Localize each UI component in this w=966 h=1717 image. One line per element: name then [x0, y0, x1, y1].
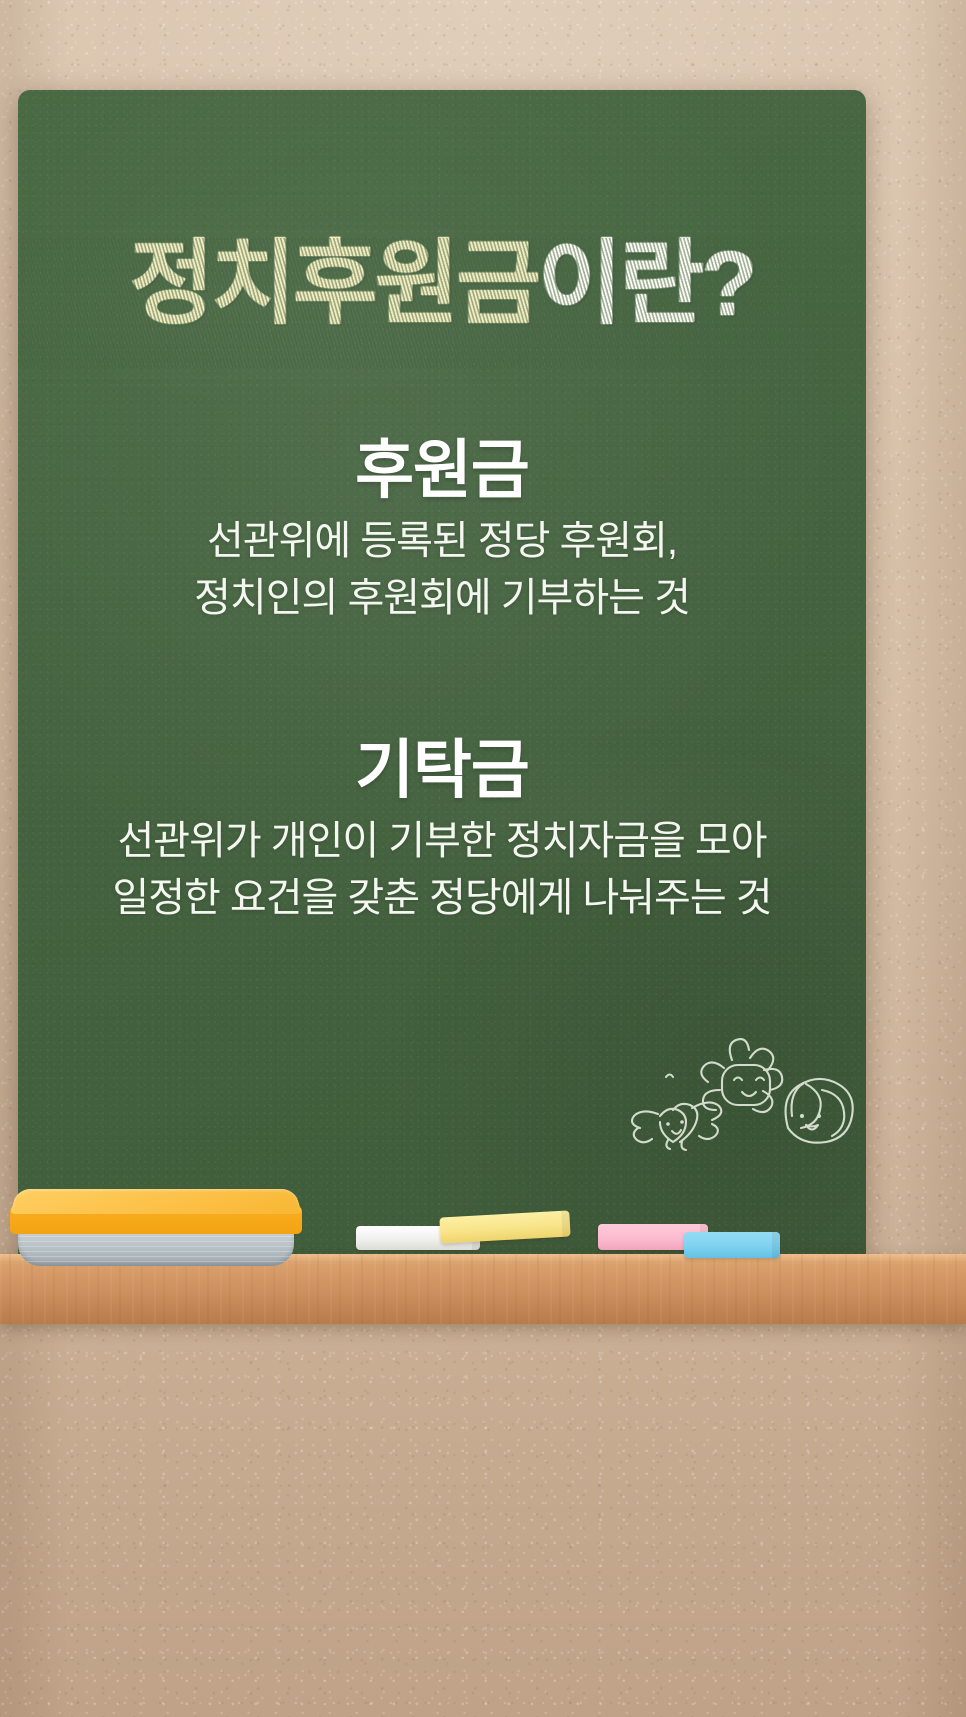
section-2-heading: 기탁금 [18, 735, 866, 805]
section-1-heading: 후원금 [18, 435, 866, 505]
section-1-body: 선관위에 등록된 정당 후원회, 정치인의 후원회에 기부하는 것 [18, 513, 866, 627]
title-highlight: 정치후원금 [130, 233, 538, 335]
section-gitakgeum: 기탁금 선관위가 개인이 기부한 정치자금을 모아 일정한 요건을 갖춘 정당에… [18, 735, 866, 927]
wall-background: 정치후원금이란? 후원금 선관위에 등록된 정당 후원회, 정치인의 후원회에 … [0, 0, 966, 1717]
chalk-yellow-end [561, 1210, 570, 1236]
section-1-line-1: 선관위에 등록된 정당 후원회, [18, 513, 866, 570]
section-2-line-1: 선관위가 개인이 기부한 정치자금을 모아 [18, 813, 866, 870]
chalkboard: 정치후원금이란? 후원금 선관위에 등록된 정당 후원회, 정치인의 후원회에 … [18, 90, 866, 1270]
section-1-line-2: 정치인의 후원회에 기부하는 것 [18, 570, 866, 627]
title-text: 정치후원금이란? [130, 238, 755, 330]
smiling-face-doodle [786, 1079, 853, 1143]
winged-heart-doodle [632, 1075, 721, 1151]
chalk-stick-blue[interactable] [684, 1232, 780, 1258]
eraser-top [10, 1189, 302, 1214]
board-title: 정치후원금이란? [18, 238, 866, 330]
title-plain: 이란? [538, 233, 754, 335]
section-2-line-2: 일정한 요건을 갖춘 정당에게 나눠주는 것 [18, 870, 866, 927]
chalk-blue-end [772, 1232, 780, 1258]
chalk-doodles-group [616, 1020, 866, 1160]
flower-mascot-doodle [701, 1039, 782, 1112]
blackboard-eraser[interactable] [8, 1184, 304, 1266]
section-huwongeum: 후원금 선관위에 등록된 정당 후원회, 정치인의 후원회에 기부하는 것 [18, 435, 866, 627]
section-2-body: 선관위가 개인이 기부한 정치자금을 모아 일정한 요건을 갖춘 정당에게 나눠… [18, 813, 866, 927]
